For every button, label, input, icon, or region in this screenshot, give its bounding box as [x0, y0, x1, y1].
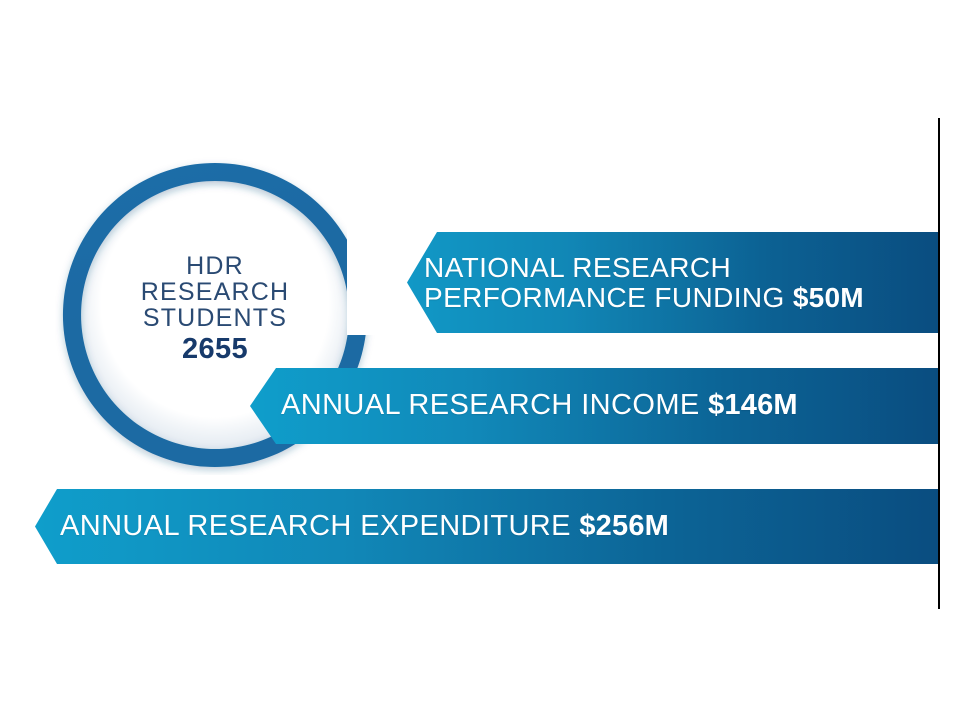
banner-funding-text: NATIONAL RESEARCH PERFORMANCE FUNDING $5…: [407, 253, 864, 313]
banner-expenditure-label: ANNUAL RESEARCH EXPENDITURE: [60, 510, 579, 542]
banner-annual-research-income[interactable]: ANNUAL RESEARCH INCOME $146M: [250, 368, 938, 444]
banner-income-text: ANNUAL RESEARCH INCOME $146M: [250, 390, 798, 421]
badge-label-line-2: RESEARCH: [55, 279, 375, 305]
banner-annual-research-expenditure[interactable]: ANNUAL RESEARCH EXPENDITURE $256M: [35, 489, 938, 564]
banner-funding-label: NATIONAL RESEARCH PERFORMANCE FUNDING: [424, 252, 793, 313]
banner-income-amount: $146M: [708, 389, 798, 421]
right-edge-rule: [938, 118, 940, 609]
badge-label-line-1: HDR: [55, 253, 375, 279]
badge-value: 2655: [55, 334, 375, 364]
badge-label-line-3: STUDENTS: [55, 305, 375, 331]
badge-text-block: HDR RESEARCH STUDENTS 2655: [55, 253, 375, 364]
banner-income-label: ANNUAL RESEARCH INCOME: [281, 389, 708, 421]
banner-expenditure-text: ANNUAL RESEARCH EXPENDITURE $256M: [35, 511, 669, 542]
banner-funding-amount: $50M: [793, 282, 864, 313]
banner-national-research-performance-funding[interactable]: NATIONAL RESEARCH PERFORMANCE FUNDING $5…: [407, 232, 938, 333]
banner-expenditure-amount: $256M: [579, 510, 669, 542]
infographic-canvas: HDR RESEARCH STUDENTS 2655 ANNUAL RESEAR…: [0, 0, 960, 720]
